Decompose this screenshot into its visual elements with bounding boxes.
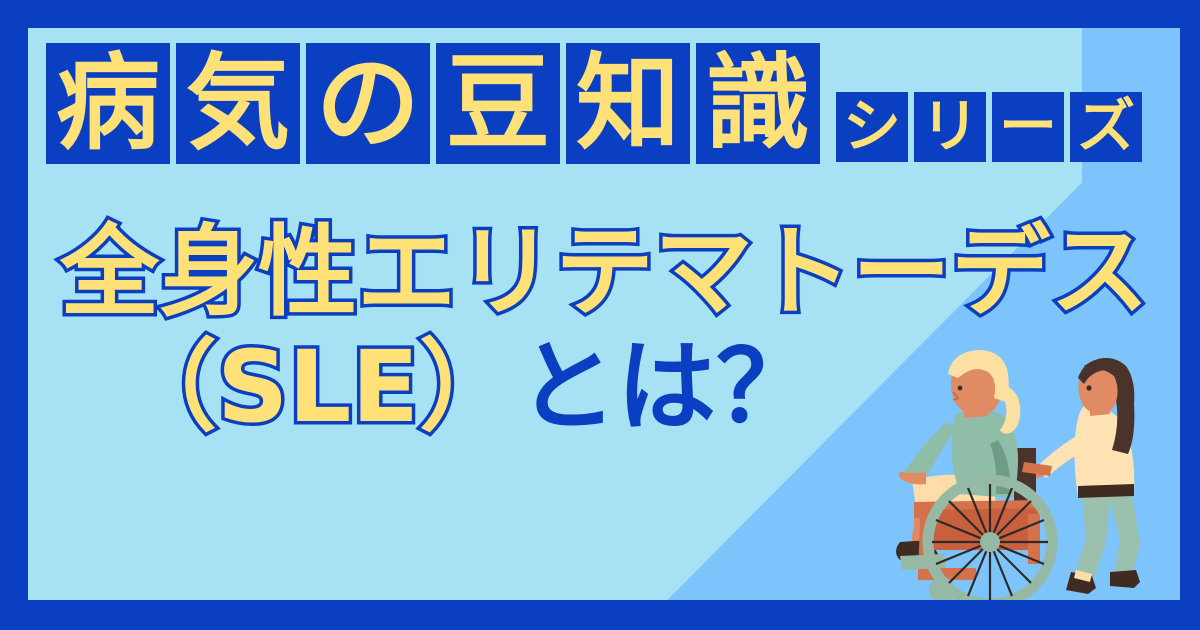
poster-canvas: 病 気 の 豆 知 識 シ リ ー ズ 全身性エリテマトーデス （SLE）とは？ — [28, 28, 1180, 600]
series-suffix-badge-char: ー — [992, 92, 1064, 162]
headline-question: とは？ — [518, 330, 815, 445]
caregiver-back-shoe — [1110, 570, 1140, 588]
series-badge-char: の — [306, 43, 430, 164]
caregiver-eye — [1086, 385, 1091, 390]
seated-hand — [899, 472, 926, 485]
wheel-hub — [980, 532, 1000, 552]
illustration-svg — [886, 344, 1180, 600]
series-badge-char: 知 — [566, 43, 690, 164]
series-badge-char: 気 — [176, 43, 300, 164]
series-badge-char: 豆 — [436, 43, 560, 164]
poster-frame: 病 気 の 豆 知 識 シ リ ー ズ 全身性エリテマトーデス （SLE）とは？ — [0, 0, 1200, 630]
caregiver-front-leg — [1074, 494, 1110, 580]
series-badge-char: 識 — [696, 43, 820, 164]
caregiver-waistband — [1078, 484, 1134, 498]
headline-line-1: 全身性エリテマトーデス — [60, 223, 1160, 322]
caregiver-back-leg — [1108, 494, 1140, 576]
headline-abbreviation: （SLE） — [118, 330, 518, 445]
series-suffix-badge-char: シ — [836, 92, 908, 162]
series-badge-char: 病 — [46, 43, 170, 164]
series-badge-row: 病 気 の 豆 知 識 シ リ ー ズ — [46, 43, 1142, 164]
series-suffix-badge-char: リ — [914, 92, 986, 162]
wheelchair-caregiver-illustration — [886, 344, 1180, 600]
seated-eye — [958, 386, 963, 391]
series-suffix-badge-char: ズ — [1070, 92, 1142, 162]
